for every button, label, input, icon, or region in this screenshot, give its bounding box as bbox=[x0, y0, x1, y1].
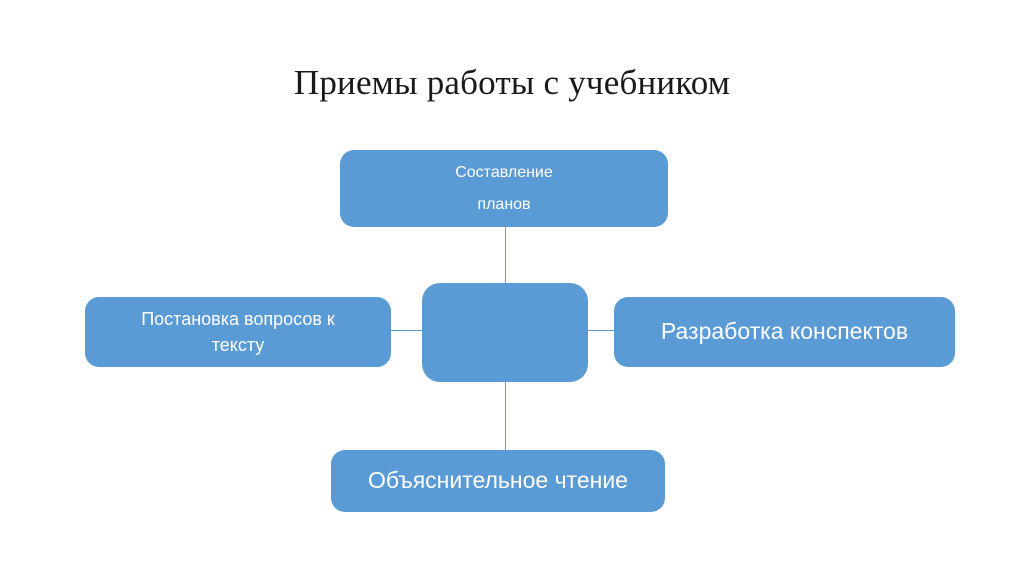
diagram-node-right-label: Разработка конспектов bbox=[661, 314, 908, 350]
page-title: Приемы работы с учебником bbox=[0, 62, 1024, 104]
diagram-node-left-label: Постановка вопросов ктексту bbox=[141, 306, 335, 358]
diagram-node-left-line2: тексту bbox=[212, 335, 265, 355]
diagram-node-top-line2: планов bbox=[477, 196, 530, 213]
diagram-node-left-line1: Постановка вопросов к bbox=[141, 309, 335, 329]
connector-center-to-top bbox=[505, 227, 506, 284]
diagram-node-right[interactable]: Разработка конспектов bbox=[614, 297, 955, 367]
diagram-node-bottom-label: Объяснительное чтение bbox=[368, 463, 628, 499]
diagram-node-bottom[interactable]: Объяснительное чтение bbox=[331, 450, 665, 512]
diagram-node-top-line1: Составление bbox=[455, 164, 553, 181]
diagram-node-left[interactable]: Постановка вопросов ктексту bbox=[85, 297, 391, 367]
diagram-node-top[interactable]: Составлениепланов bbox=[340, 150, 668, 227]
diagram-node-top-label: Составлениепланов bbox=[455, 157, 553, 221]
connector-center-to-left bbox=[391, 330, 423, 331]
connector-center-to-right bbox=[588, 330, 615, 331]
slide-canvas: Приемы работы с учебником Составлениепла… bbox=[0, 0, 1024, 574]
diagram-node-center-hub[interactable] bbox=[422, 283, 588, 382]
connector-center-to-bottom bbox=[505, 382, 506, 451]
